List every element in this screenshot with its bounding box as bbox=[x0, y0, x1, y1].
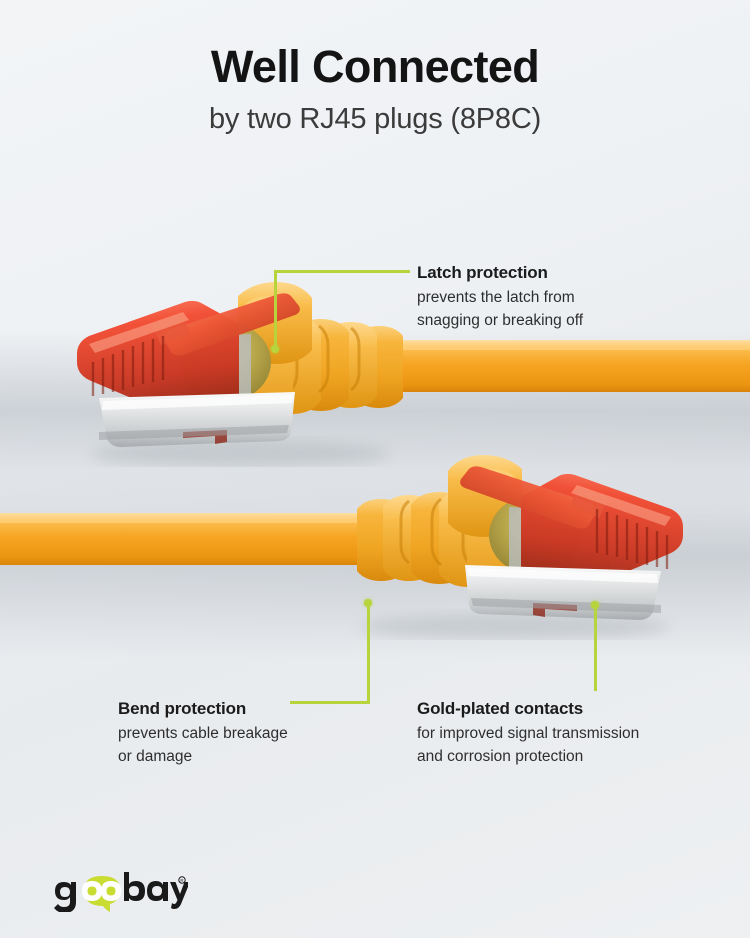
callout-bend-line1: prevents cable breakage bbox=[118, 723, 288, 746]
callout-gold-line2: and corrosion protection bbox=[417, 746, 639, 769]
leader-line-bend-vertical bbox=[367, 604, 370, 703]
callout-gold-line1: for improved signal transmission bbox=[417, 723, 639, 746]
leader-dot-bend bbox=[364, 599, 372, 607]
callout-latch-heading: Latch protection bbox=[417, 262, 583, 283]
leader-dot-latch bbox=[271, 345, 279, 353]
callout-latch-line1: prevents the latch from bbox=[417, 287, 583, 310]
goobay-logo: R bbox=[48, 872, 188, 912]
infographic-canvas: Well Connected by two RJ45 plugs (8P8C) bbox=[0, 0, 750, 938]
callout-bend-line2: or damage bbox=[118, 746, 288, 769]
leader-line-bend-horizontal bbox=[290, 701, 370, 704]
leader-dot-gold bbox=[591, 601, 599, 609]
callout-latch-line2: snagging or breaking off bbox=[417, 310, 583, 333]
leader-line-gold-vertical bbox=[594, 606, 597, 691]
callout-gold-plated-contacts: Gold-plated contacts for improved signal… bbox=[417, 698, 639, 769]
page-subtitle: by two RJ45 plugs (8P8C) bbox=[0, 89, 750, 134]
callout-bend-protection: Bend protection prevents cable breakage … bbox=[118, 698, 288, 769]
callout-bend-heading: Bend protection bbox=[118, 698, 288, 719]
leader-line-latch-vertical bbox=[274, 270, 277, 352]
header-block: Well Connected by two RJ45 plugs (8P8C) bbox=[0, 0, 750, 134]
rj45-connector-bottom bbox=[0, 455, 705, 640]
callout-latch-protection: Latch protection prevents the latch from… bbox=[417, 262, 583, 333]
svg-text:R: R bbox=[180, 878, 183, 883]
page-title: Well Connected bbox=[0, 0, 750, 89]
rj45-connector-top bbox=[55, 282, 750, 467]
leader-line-latch-horizontal bbox=[274, 270, 410, 273]
callout-gold-heading: Gold-plated contacts bbox=[417, 698, 639, 719]
